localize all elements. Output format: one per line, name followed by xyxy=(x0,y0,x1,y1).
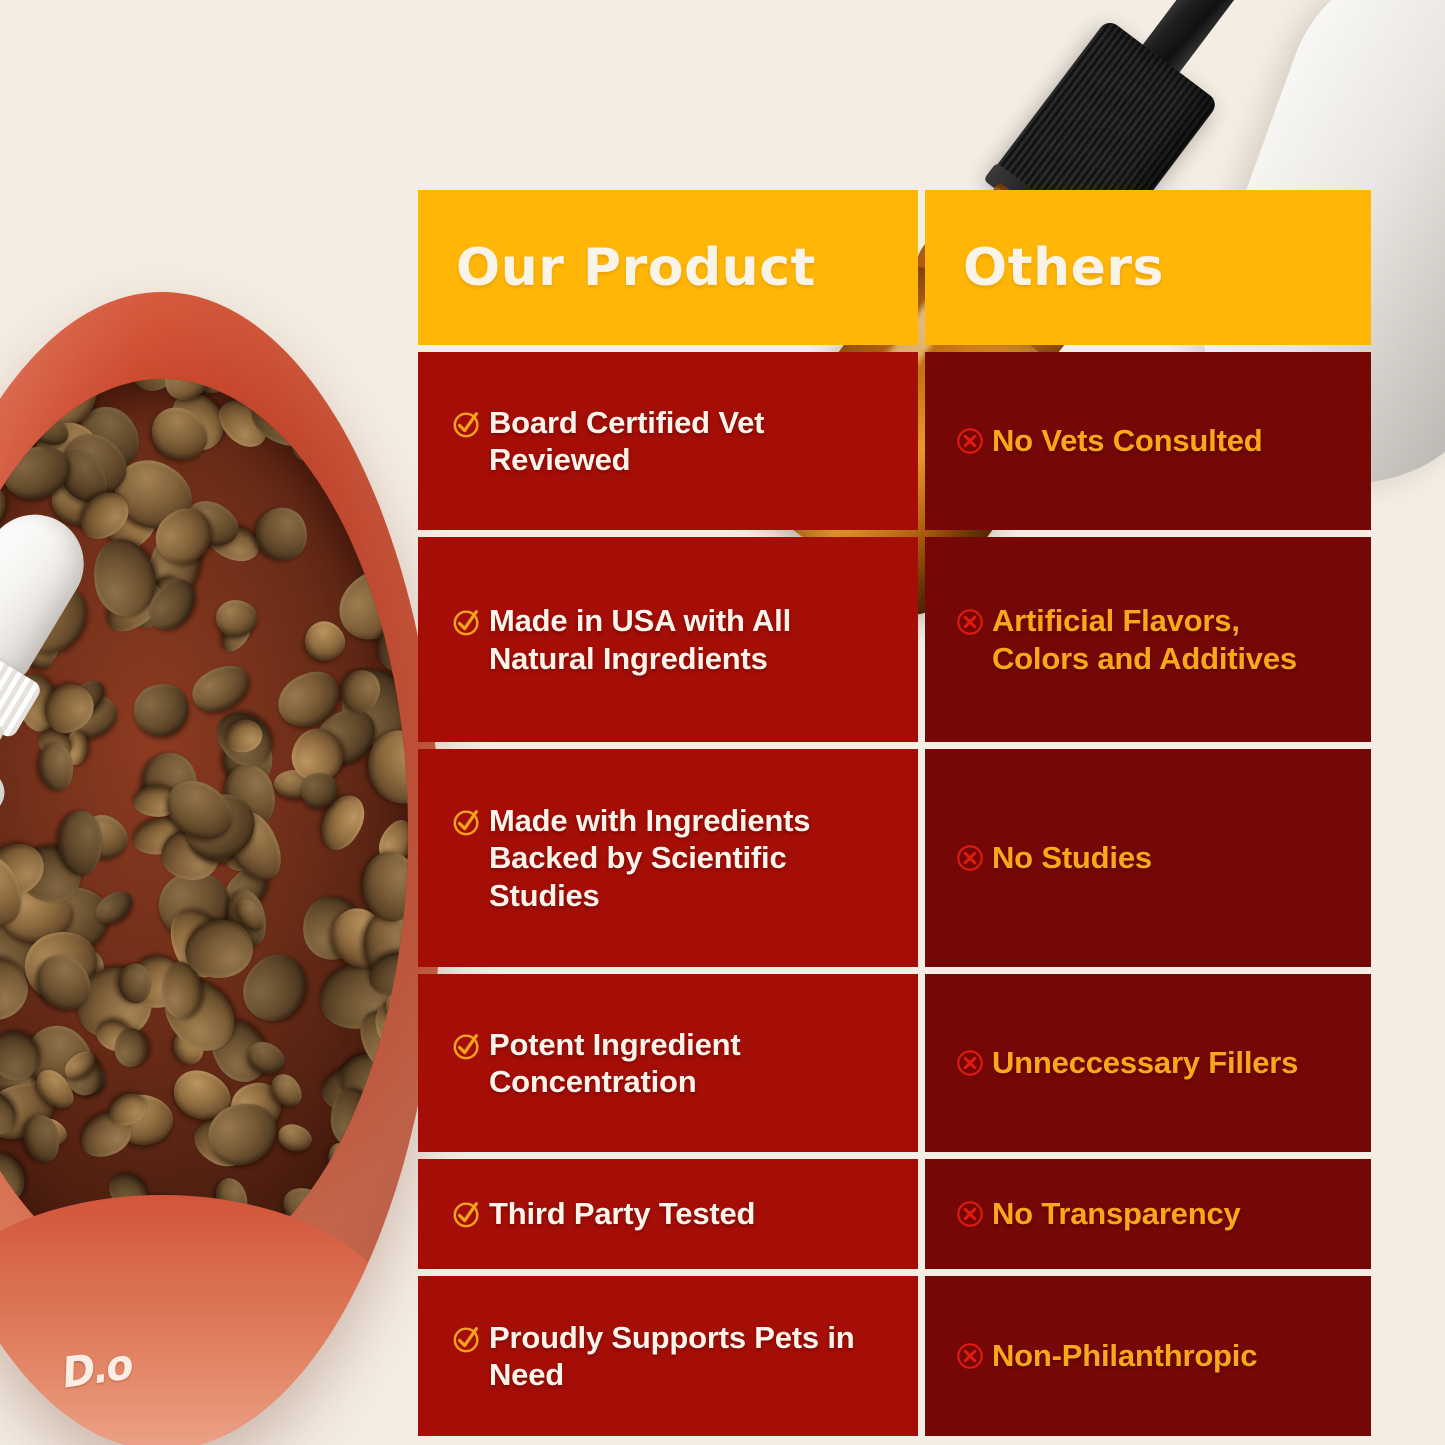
header-label-our-product: Our Product xyxy=(456,242,816,294)
row-text-ours: Third Party Tested xyxy=(489,1195,755,1232)
table-row: Made in USA with All Natural Ingredients xyxy=(418,537,918,742)
table-row: Board Certified Vet Reviewed xyxy=(418,352,918,530)
table-row: Unneccessary Fillers xyxy=(925,974,1371,1152)
row-text-others: Unneccessary Fillers xyxy=(992,1044,1298,1081)
table-row: No Transparency xyxy=(925,1159,1371,1269)
table-row: Potent Ingredient Concentration xyxy=(418,974,918,1152)
bowl-interior xyxy=(0,379,408,1282)
infographic-canvas: D.o Oh Norman! Calm the Down! Balanced D… xyxy=(0,0,1445,1445)
table-header-others: Others xyxy=(925,190,1371,345)
table-row: Artificial Flavors, Colors and Additives xyxy=(925,537,1371,742)
dog-bowl-photo: D.o Oh Norman! Calm the Down! Balanced D… xyxy=(0,292,442,1445)
row-text-others: No Vets Consulted xyxy=(992,422,1262,459)
row-text-others: Artificial Flavors, Colors and Additives xyxy=(992,602,1345,676)
row-text-ours: Made with Ingredients Backed by Scientif… xyxy=(489,802,892,914)
comparison-table: Our Product Others Board Certified Vet R… xyxy=(418,190,1371,1436)
table-row: Third Party Tested xyxy=(418,1159,918,1269)
kibble-pieces xyxy=(0,379,408,1282)
x-circle-icon xyxy=(955,426,985,456)
row-text-ours: Board Certified Vet Reviewed xyxy=(489,404,892,478)
table-row: Made with Ingredients Backed by Scientif… xyxy=(418,749,918,967)
header-label-others: Others xyxy=(963,242,1164,294)
table-row: Proudly Supports Pets in Need xyxy=(418,1276,918,1436)
row-text-ours: Made in USA with All Natural Ingredients xyxy=(489,602,892,676)
x-circle-icon xyxy=(955,1048,985,1078)
table-row: Non-Philanthropic xyxy=(925,1276,1371,1436)
row-text-others: No Studies xyxy=(992,839,1152,876)
x-circle-icon xyxy=(955,607,985,637)
x-circle-icon xyxy=(955,1341,985,1371)
table-row: No Vets Consulted xyxy=(925,352,1371,530)
check-circle-icon xyxy=(452,607,482,637)
x-circle-icon xyxy=(955,843,985,873)
table-row: No Studies xyxy=(925,749,1371,967)
row-text-others: No Transparency xyxy=(992,1195,1241,1232)
row-text-others: Non-Philanthropic xyxy=(992,1337,1257,1374)
check-circle-icon xyxy=(452,807,482,837)
check-circle-icon xyxy=(452,409,482,439)
table-header-our-product: Our Product xyxy=(418,190,918,345)
x-circle-icon xyxy=(955,1199,985,1229)
dog-bowl: D.o xyxy=(0,292,442,1445)
row-text-ours: Potent Ingredient Concentration xyxy=(489,1026,892,1100)
row-text-ours: Proudly Supports Pets in Need xyxy=(489,1319,892,1393)
check-circle-icon xyxy=(452,1031,482,1061)
check-circle-icon xyxy=(452,1199,482,1229)
check-circle-icon xyxy=(452,1324,482,1354)
